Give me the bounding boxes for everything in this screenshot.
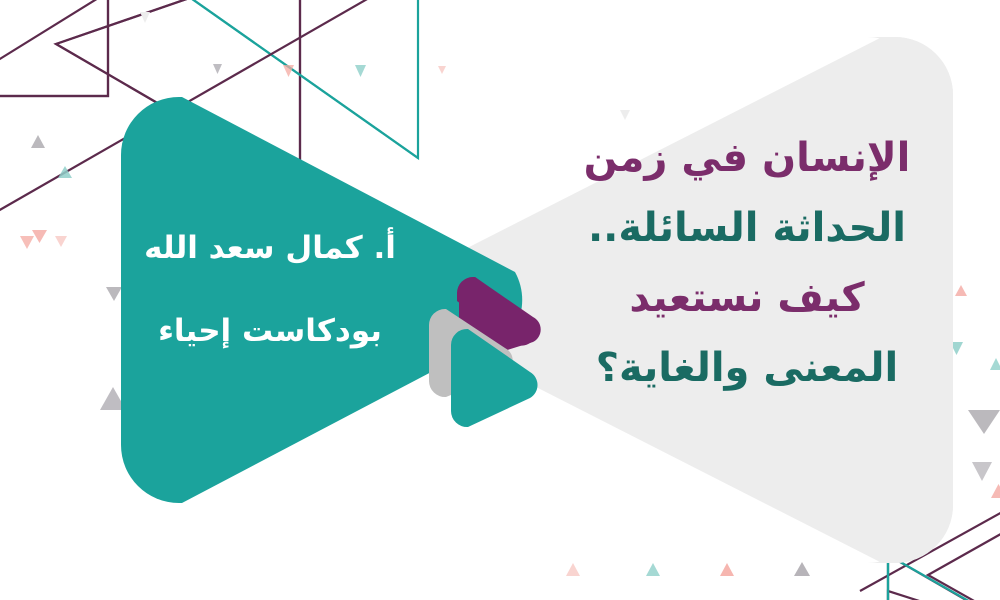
speaker-name: أ. كمال سعد الله: [120, 232, 420, 265]
title-line-3: كيف نستعيد: [582, 278, 912, 318]
title-line-2: الحداثة السائلة..: [582, 208, 912, 248]
title-line-1: الإنسان في زمن: [582, 138, 912, 178]
title-line-4: المعنى والغاية؟: [582, 348, 912, 388]
podcast-name: بودكاست إحياء: [120, 315, 420, 348]
speaker-text-block: أ. كمال سعد الله بودكاست إحياء: [120, 232, 420, 347]
episode-title-block: الإنسان في زمن الحداثة السائلة.. كيف نست…: [582, 138, 912, 388]
poster-canvas: أ. كمال سعد الله بودكاست إحياء الإنسان ف…: [0, 0, 1000, 600]
